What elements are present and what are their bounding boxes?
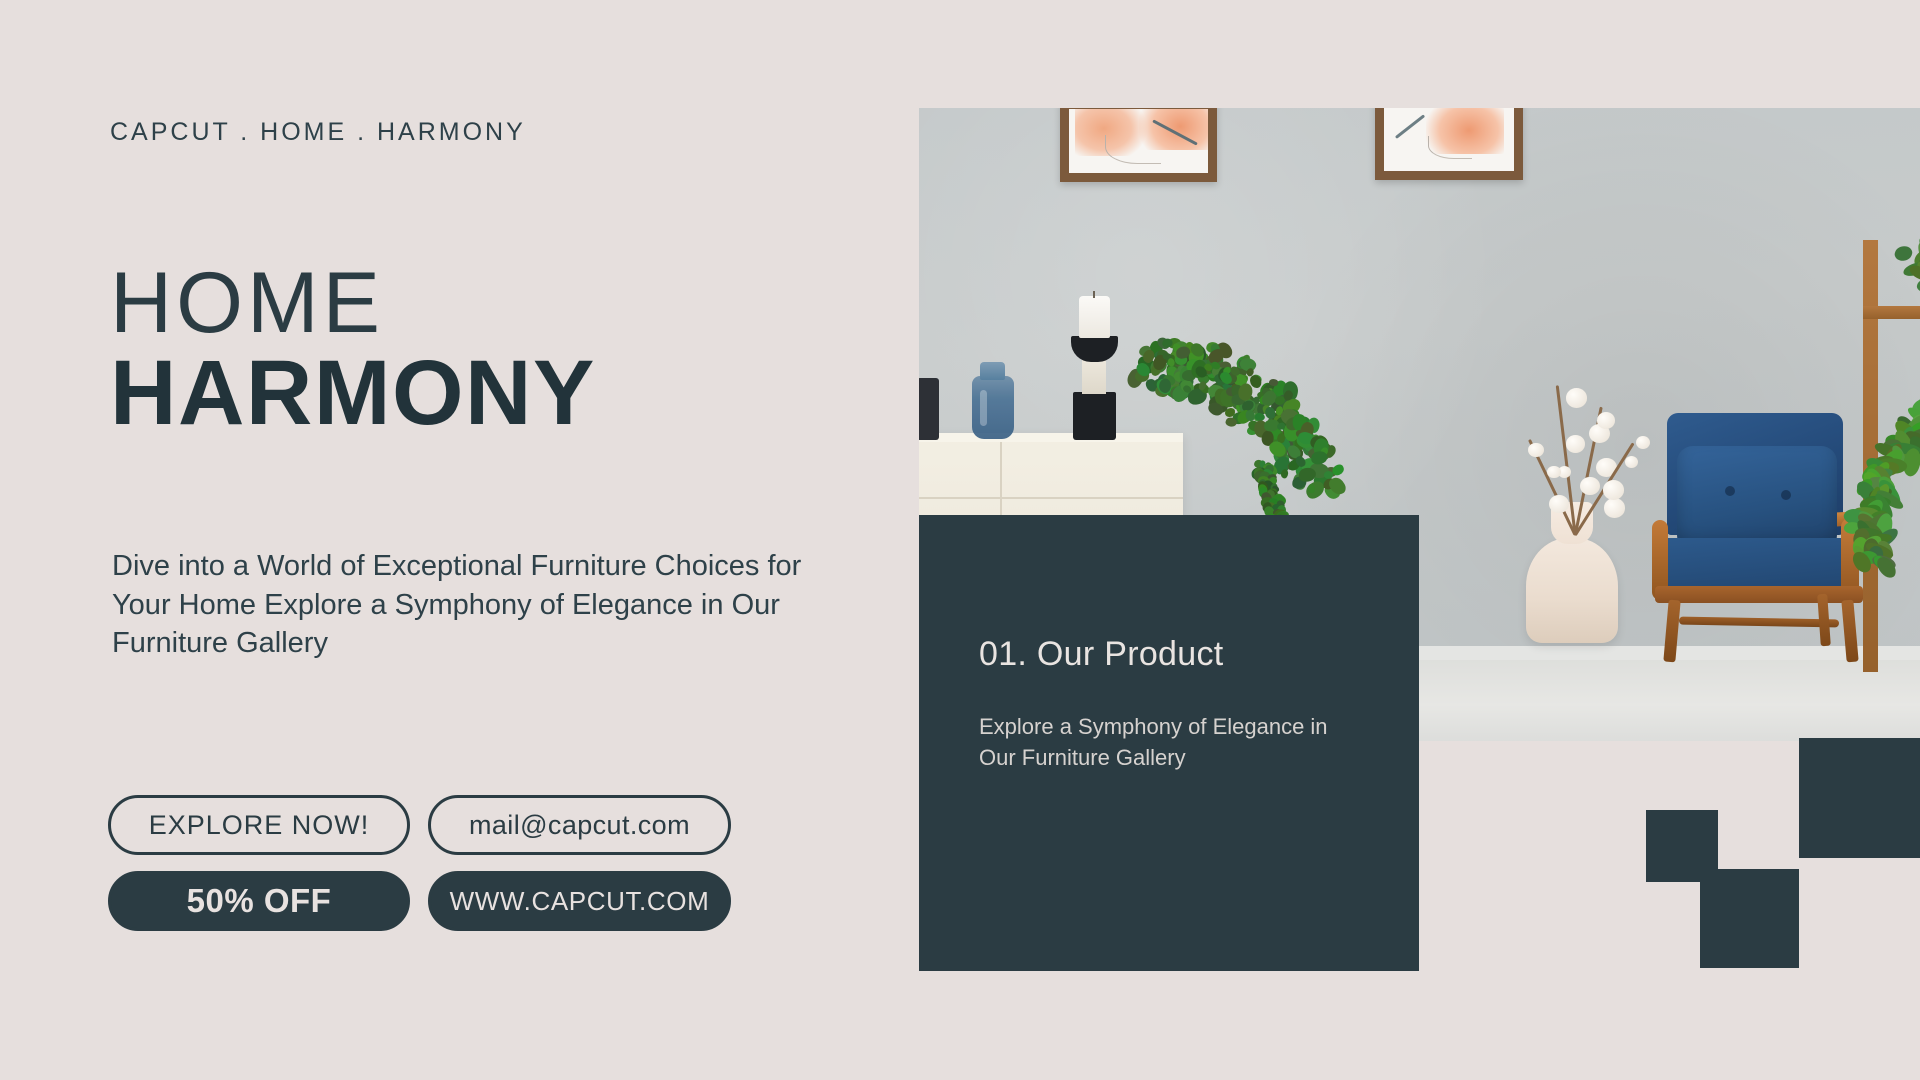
blue-glass-vase [972, 376, 1014, 439]
armchair-front-rail [1655, 586, 1863, 603]
blue-glass-vase-neck [980, 362, 1005, 380]
hero-description: Dive into a World of Exceptional Furnitu… [112, 547, 842, 663]
product-card-body: Explore a Symphony of Elegance in Our Fu… [979, 711, 1359, 773]
email-button[interactable]: mail@capcut.com [428, 795, 731, 855]
cta-row-secondary: 50% OFF WWW.CAPCUT.COM [108, 871, 731, 931]
framed-art-left [1060, 108, 1217, 182]
cta-row-primary: EXPLORE NOW! mail@capcut.com [108, 795, 731, 855]
page-title-line2: HARMONY [110, 347, 596, 439]
decor-square-large [1799, 738, 1920, 858]
dark-vessel [919, 378, 939, 440]
ceramic-vase [1526, 538, 1618, 643]
poster-canvas: 01. Our Product Explore a Symphony of El… [0, 0, 1920, 1080]
product-card[interactable]: 01. Our Product Explore a Symphony of El… [919, 515, 1419, 971]
armchair-cushion [1677, 446, 1837, 551]
hanging-fern-plant [1109, 330, 1389, 530]
page-title: HOME HARMONY [110, 262, 596, 439]
website-button[interactable]: WWW.CAPCUT.COM [428, 871, 731, 931]
breadcrumb: CAPCUT . HOME . HARMONY [110, 118, 526, 147]
candle-wick [1093, 291, 1095, 298]
page-title-line1: HOME [110, 262, 596, 345]
cta-button-group: EXPLORE NOW! mail@capcut.com 50% OFF WWW… [108, 795, 731, 947]
product-card-heading: 01. Our Product [979, 635, 1224, 674]
cotton-branch [1479, 338, 1689, 538]
framed-art-right [1375, 108, 1523, 180]
candle-holder-stem [1082, 360, 1106, 394]
decor-square-medium [1700, 869, 1799, 968]
explore-now-button[interactable]: EXPLORE NOW! [108, 795, 410, 855]
pillar-candle [1079, 296, 1110, 338]
discount-badge-button[interactable]: 50% OFF [108, 871, 410, 931]
